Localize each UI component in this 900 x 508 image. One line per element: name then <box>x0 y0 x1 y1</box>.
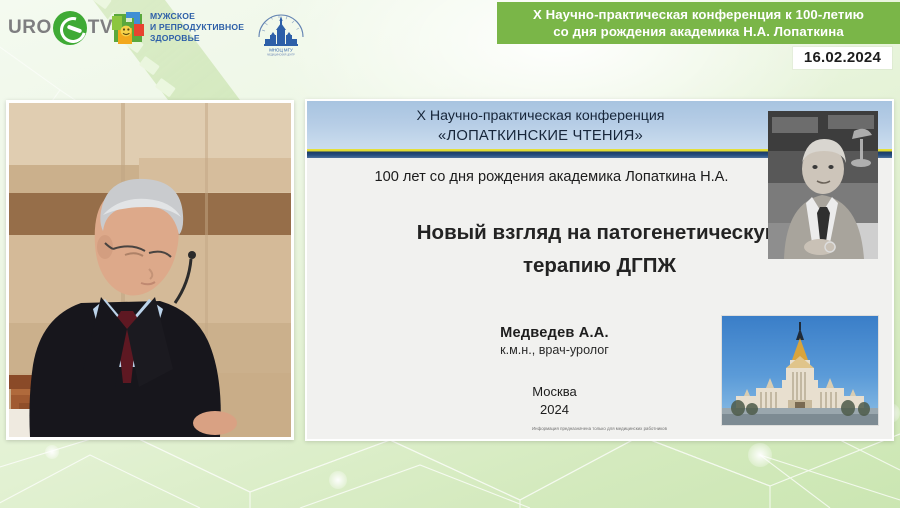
slide-year: 2024 <box>367 401 742 419</box>
slide-author-name: Медведев А.А. <box>367 325 742 341</box>
male-reproductive-health-logo-text: МУЖСКОЕ И РЕПРОДУКТИВНОЕ ЗДОРОВЬЕ <box>150 11 244 44</box>
urotv-leaf-icon <box>53 11 87 45</box>
puzzle-pieces-icon <box>108 8 148 48</box>
slide-header-line-1: X Научно-практическая конференция <box>307 106 774 126</box>
urotv-logo-left-text: URO <box>8 17 52 39</box>
mesh-node-circle <box>45 445 59 459</box>
speaker-photo <box>9 103 291 437</box>
slide-subtitle: 100 лет со дня рождения академика Лопатк… <box>327 169 776 185</box>
slide-city-year-block: Москва 2024 <box>367 383 742 419</box>
slide-author-block: Медведев А.А. к.м.н., врач-уролог <box>367 325 742 357</box>
msu-building-photo <box>722 316 878 425</box>
msu-building-silhouette <box>264 16 298 46</box>
conference-banner-line-2: со дня рождения академика Н.А. Лопаткина <box>533 23 864 40</box>
msu-building-graphic <box>722 316 878 425</box>
mrz-line-3: ЗДОРОВЬЕ <box>150 33 244 44</box>
mesh-node-circle <box>329 471 347 489</box>
male-reproductive-health-logo: МУЖСКОЕ И РЕПРОДУКТИВНОЕ ЗДОРОВЬЕ <box>108 6 238 50</box>
mesh-node-circle <box>748 443 772 467</box>
date-badge: 16.02.2024 <box>793 47 892 69</box>
polygon-mesh <box>0 430 900 508</box>
presentation-slide[interactable]: X Научно-практическая конференция «ЛОПАТ… <box>305 99 894 441</box>
urotv-logo: URO TV <box>8 8 113 48</box>
presentation-broadcast-screen: URO TV МУЖСКОЕ И РЕПРОДУКТИВНОЕ ЗДОРОВЬЕ <box>0 0 900 508</box>
msu-logo: МНОЦ МГУ МЕДИЦИНСКИЙ ЦЕНТР <box>253 4 309 60</box>
mrz-line-1: МУЖСКОЕ <box>150 11 244 22</box>
slide-header-line-2: «ЛОПАТКИНСКИЕ ЧТЕНИЯ» <box>307 126 774 147</box>
slide-disclaimer: Информация предназначена только для меди… <box>307 426 892 431</box>
msu-logo-subcaption: МЕДИЦИНСКИЙ ЦЕНТР <box>267 53 295 56</box>
logo-bar: URO TV МУЖСКОЕ И РЕПРОДУКТИВНОЕ ЗДОРОВЬЕ <box>0 0 500 95</box>
slide-city: Москва <box>367 383 742 401</box>
lopatkin-portrait-photo <box>768 111 878 259</box>
lopatkin-portrait-graphic <box>768 111 878 259</box>
conference-banner: X Научно-практическая конференция к 100-… <box>497 2 900 44</box>
mrz-line-2: И РЕПРОДУКТИВНОЕ <box>150 22 244 33</box>
slide-header-text: X Научно-практическая конференция «ЛОПАТ… <box>307 106 774 147</box>
conference-banner-line-1: X Научно-практическая конференция к 100-… <box>533 6 864 23</box>
msu-logo-caption: МНОЦ МГУ <box>269 47 293 52</box>
speaker-video-panel[interactable] <box>6 100 294 440</box>
slide-author-role: к.м.н., врач-уролог <box>367 343 742 357</box>
